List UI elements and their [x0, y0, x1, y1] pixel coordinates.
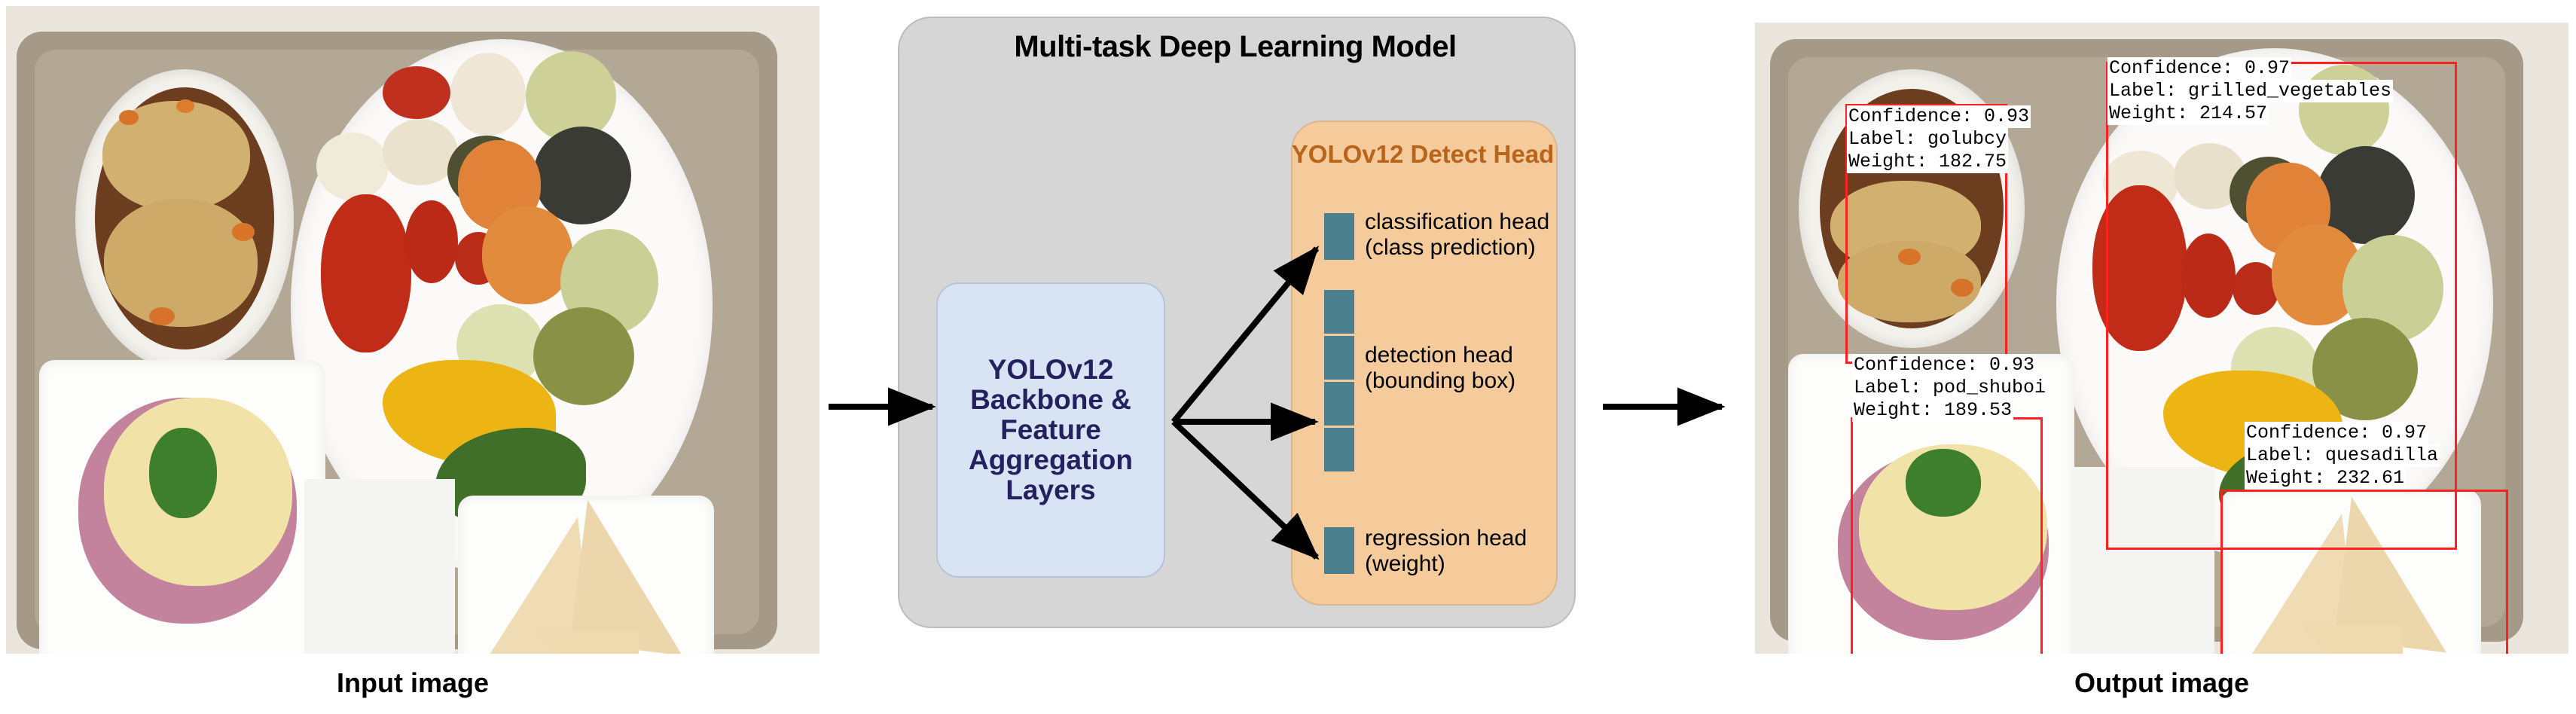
detection-head-block-4	[1324, 428, 1354, 471]
annotation-grilled-vegetables-weight: Weight: 214.57	[2107, 102, 2269, 125]
golubcy-carrot-1	[119, 110, 139, 125]
figure-root: Input image Multi-task Deep Learning Mod…	[0, 0, 2576, 714]
backbone-line-4: Layers	[969, 475, 1133, 505]
veg-eggplant-2	[533, 127, 631, 224]
annotation-quesadilla-confidence: Confidence: 0.97	[2245, 422, 2428, 444]
detection-head-line1: detection head	[1365, 343, 1515, 368]
detection-head-block-1	[1324, 290, 1354, 334]
veg-onion-1	[450, 53, 526, 136]
annotation-golubcy-confidence: Confidence: 0.93	[1847, 105, 2031, 128]
veg-zucchini-4	[533, 307, 634, 405]
veg-pumpkin-2	[482, 206, 572, 304]
detect-head-title: YOLOv12 Detect Head	[1291, 140, 1555, 169]
regression-head-line1: regression head	[1365, 526, 1527, 551]
output-image: Confidence: 0.93 Label: golubcy Weight: …	[1755, 23, 2568, 654]
backbone-line-1: Backbone &	[969, 385, 1133, 415]
veg-pepper-red-1	[321, 194, 411, 352]
regression-head-label: regression head (weight)	[1365, 526, 1527, 576]
annotation-quesadilla: Confidence: 0.97 Label: quesadilla Weigh…	[2245, 422, 2440, 490]
annotation-pod-shuboi-confidence: Confidence: 0.93	[1852, 354, 2036, 377]
annotation-grilled-vegetables: Confidence: 0.97 Label: grilled_vegetabl…	[2107, 57, 2393, 125]
quesadilla-piece-3	[533, 631, 639, 654]
veg-tomato-1	[383, 66, 450, 119]
backbone-line-0: YOLOv12	[969, 355, 1133, 385]
regression-head-block	[1324, 527, 1354, 574]
output-caption: Output image	[1755, 667, 2568, 699]
annotation-golubcy-label: Label: golubcy	[1847, 128, 2008, 151]
veg-tomato-2	[405, 200, 458, 283]
annotation-quesadilla-label: Label: quesadilla	[2245, 444, 2440, 467]
backbone-line-3: Aggregation	[969, 445, 1133, 475]
annotation-quesadilla-weight: Weight: 232.61	[2245, 467, 2406, 490]
backbone-box: YOLOv12 Backbone & Feature Aggregation L…	[936, 282, 1165, 578]
annotation-pod-shuboi-weight: Weight: 189.53	[1852, 399, 2013, 422]
backbone-box-label: YOLOv12 Backbone & Feature Aggregation L…	[969, 355, 1133, 505]
detection-head-line2: (bounding box)	[1365, 368, 1515, 394]
veg-onion-2	[316, 133, 389, 200]
detection-head-block-2	[1324, 336, 1354, 380]
diagram-title: Multi-task Deep Learning Model	[898, 30, 1573, 64]
annotation-grilled-vegetables-confidence: Confidence: 0.97	[2107, 57, 2291, 80]
annotation-golubcy: Confidence: 0.93 Label: golubcy Weight: …	[1847, 105, 2031, 173]
classification-head-line2: (class prediction)	[1365, 235, 1549, 261]
classification-head-line1: classification head	[1365, 209, 1549, 235]
detection-head-label: detection head (bounding box)	[1365, 343, 1515, 393]
salad-herbs	[149, 428, 217, 518]
napkin	[304, 479, 455, 654]
golubcy-carrot-4	[149, 307, 175, 325]
classification-head-block	[1324, 213, 1354, 260]
input-image	[6, 6, 819, 654]
annotation-golubcy-weight: Weight: 182.75	[1847, 151, 2008, 173]
annotation-grilled-vegetables-label: Label: grilled_vegetables	[2107, 80, 2393, 102]
annotation-pod-shuboi: Confidence: 0.93 Label: pod_shuboi Weigh…	[1852, 354, 2047, 422]
annotation-pod-shuboi-label: Label: pod_shuboi	[1852, 377, 2047, 399]
classification-head-label: classification head (class prediction)	[1365, 209, 1549, 260]
backbone-line-2: Feature	[969, 415, 1133, 445]
golubcy-roll-2	[104, 199, 258, 327]
detection-head-block-3	[1324, 382, 1354, 426]
golubcy-carrot-3	[232, 223, 255, 241]
bbox-pod-shuboi	[1851, 417, 2043, 654]
golubcy-carrot-2	[176, 99, 194, 113]
bbox-quesadilla	[2220, 490, 2508, 654]
veg-onion-3	[383, 119, 458, 185]
regression-head-line2: (weight)	[1365, 551, 1527, 577]
input-caption: Input image	[6, 667, 819, 699]
